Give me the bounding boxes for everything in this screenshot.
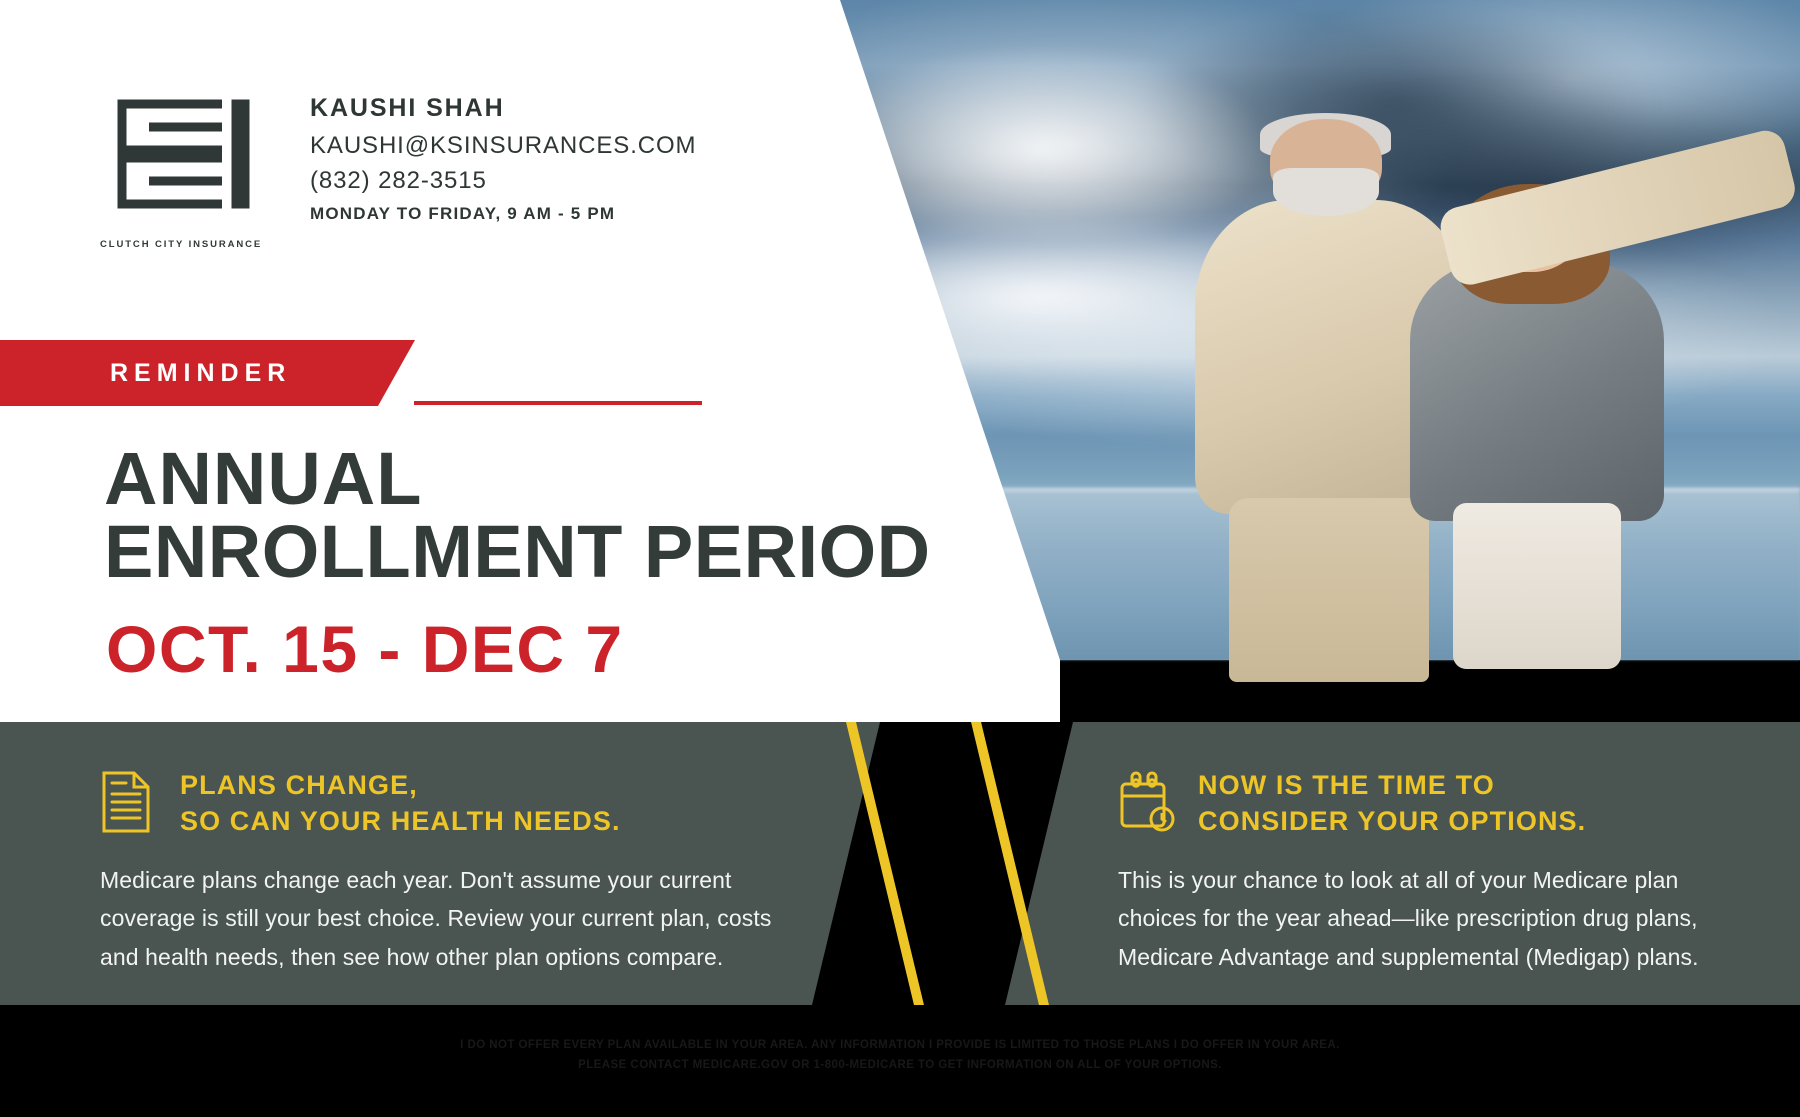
office-hours: MONDAY TO FRIDAY, 9 AM - 5 PM	[310, 204, 696, 224]
panel-left-title-line-2: SO CAN YOUR HEALTH NEEDS.	[180, 804, 621, 840]
panel-right-body: This is your chance to look at all of yo…	[1118, 861, 1758, 976]
banner-rule	[414, 401, 702, 405]
reminder-banner: REMINDER	[0, 340, 415, 406]
agent-phone[interactable]: (832) 282-3515	[310, 167, 696, 195]
panel-left-title: PLANS CHANGE, SO CAN YOUR HEALTH NEEDS.	[180, 768, 621, 839]
medicare-enrollment-flyer: CLUTCH CITY INSURANCE KAUSHI SHAH KAUSHI…	[0, 0, 1800, 1117]
panel-left-body: Medicare plans change each year. Don't a…	[100, 861, 800, 976]
panel-left-content: PLANS CHANGE, SO CAN YOUR HEALTH NEEDS. …	[100, 768, 800, 976]
enrollment-dates: OCT. 15 - DEC 7	[106, 611, 624, 687]
panel-left-title-line-1: PLANS CHANGE,	[180, 768, 621, 804]
panel-right-title: NOW IS THE TIME TO CONSIDER YOUR OPTIONS…	[1198, 768, 1586, 839]
panel-right-title-line-2: CONSIDER YOUR OPTIONS.	[1198, 804, 1586, 840]
disclaimer-line-2: PLEASE CONTACT MEDICARE.GOV OR 1-800-MED…	[0, 1055, 1800, 1075]
panel-right-title-line-1: NOW IS THE TIME TO	[1198, 768, 1586, 804]
agent-name: KAUSHI SHAH	[310, 94, 696, 123]
calendar-clock-icon	[1118, 768, 1176, 839]
divider-stripe-left	[846, 722, 924, 1005]
panel-right-content: NOW IS THE TIME TO CONSIDER YOUR OPTIONS…	[1118, 768, 1758, 976]
document-icon	[100, 768, 158, 839]
headline-line-1: ANNUAL	[104, 443, 931, 516]
disclaimer-line-1: I DO NOT OFFER EVERY PLAN AVAILABLE IN Y…	[0, 1035, 1800, 1055]
page-title: ANNUAL ENROLLMENT PERIOD	[104, 443, 931, 588]
logo-wordmark: CLUTCH CITY INSURANCE	[100, 239, 252, 250]
clutch-city-monogram-icon	[100, 78, 252, 230]
info-panels: PLANS CHANGE, SO CAN YOUR HEALTH NEEDS. …	[0, 722, 1800, 1005]
header-contact-block: CLUTCH CITY INSURANCE KAUSHI SHAH KAUSHI…	[100, 78, 696, 250]
contact-details: KAUSHI SHAH KAUSHI@KSINSURANCES.COM (832…	[310, 78, 696, 250]
legal-disclaimer: I DO NOT OFFER EVERY PLAN AVAILABLE IN Y…	[0, 1035, 1800, 1075]
brand-logo: CLUTCH CITY INSURANCE	[100, 78, 252, 250]
reminder-label: REMINDER	[110, 359, 291, 388]
divider-stripe-right	[971, 722, 1049, 1005]
agent-email[interactable]: KAUSHI@KSINSURANCES.COM	[310, 132, 696, 160]
headline-line-2: ENROLLMENT PERIOD	[104, 516, 931, 589]
